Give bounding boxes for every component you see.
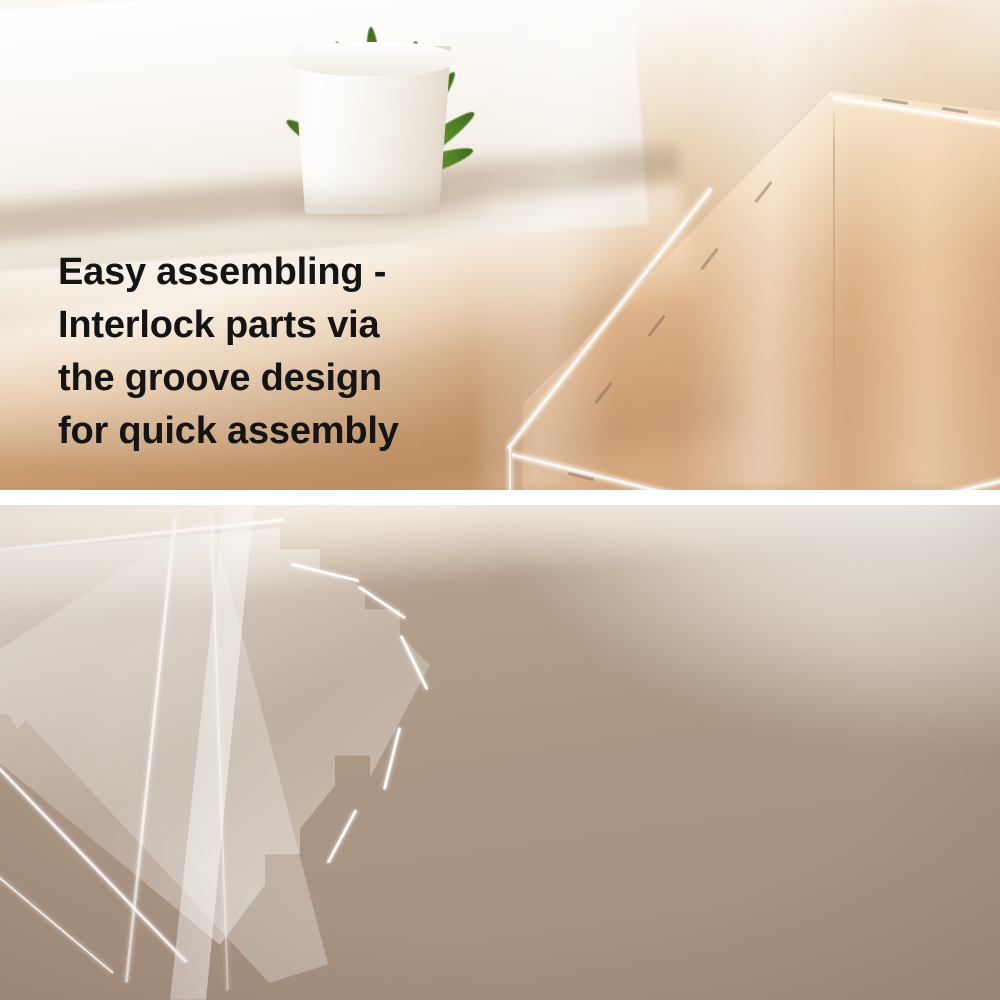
- bottom-feature-panel: Protective film - Double -sided protecti…: [0, 505, 1000, 1000]
- top-panel-caption: Easy assembling - Interlock parts via th…: [58, 246, 399, 458]
- panel-divider: [0, 490, 1000, 505]
- panel-vignette: [0, 505, 1000, 1000]
- potted-plant: [262, 0, 482, 234]
- top-feature-panel: Easy assembling - Interlock parts via th…: [0, 0, 1000, 490]
- case-transparent-body: [450, 60, 1000, 490]
- pot-rim: [286, 42, 458, 76]
- acrylic-display-case: [450, 60, 1000, 490]
- case-panel-seam: [833, 106, 835, 436]
- feature-collage: Easy assembling - Interlock parts via th…: [0, 0, 1000, 1000]
- case-corner-post: [508, 448, 512, 490]
